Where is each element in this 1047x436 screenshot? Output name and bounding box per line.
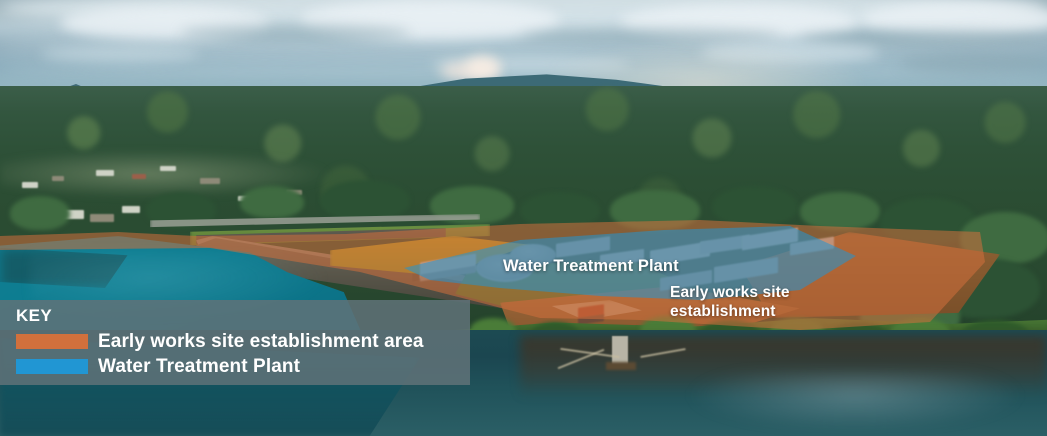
tree-clump xyxy=(10,196,70,230)
legend-title: KEY xyxy=(16,306,470,326)
label-early-works: Early works site establishment xyxy=(670,284,820,322)
tree-clump xyxy=(240,186,304,218)
legend-item-early-works: Early works site establishment area xyxy=(16,329,470,354)
label-early-works-line2: establishment xyxy=(670,303,820,322)
intake-tower-base xyxy=(606,362,636,370)
tree-clump xyxy=(520,192,600,228)
house xyxy=(122,206,140,213)
cloud xyxy=(180,24,410,42)
water-sheen xyxy=(690,372,1020,430)
legend-label-water-treatment: Water Treatment Plant xyxy=(98,356,300,378)
house xyxy=(160,166,176,171)
house xyxy=(132,174,146,179)
legend-box: KEY Early works site establishment area … xyxy=(0,300,470,385)
tree-clump xyxy=(320,180,410,220)
house xyxy=(52,176,64,181)
house xyxy=(22,182,38,188)
house xyxy=(96,170,114,176)
house xyxy=(200,178,220,184)
house xyxy=(90,214,114,222)
water-treatment-swatch xyxy=(16,359,88,374)
early-works-swatch xyxy=(16,334,88,349)
tree-clump xyxy=(610,190,700,230)
label-early-works-line1: Early works site xyxy=(670,284,820,303)
tree-clump xyxy=(712,186,798,226)
aerial-site-map: Water Treatment Plant Early works site e… xyxy=(0,0,1047,436)
label-water-treatment-plant: Water Treatment Plant xyxy=(503,256,679,276)
tree-clump xyxy=(800,192,880,230)
legend-item-water-treatment: Water Treatment Plant xyxy=(16,354,470,379)
legend-label-early-works: Early works site establishment area xyxy=(98,331,424,353)
